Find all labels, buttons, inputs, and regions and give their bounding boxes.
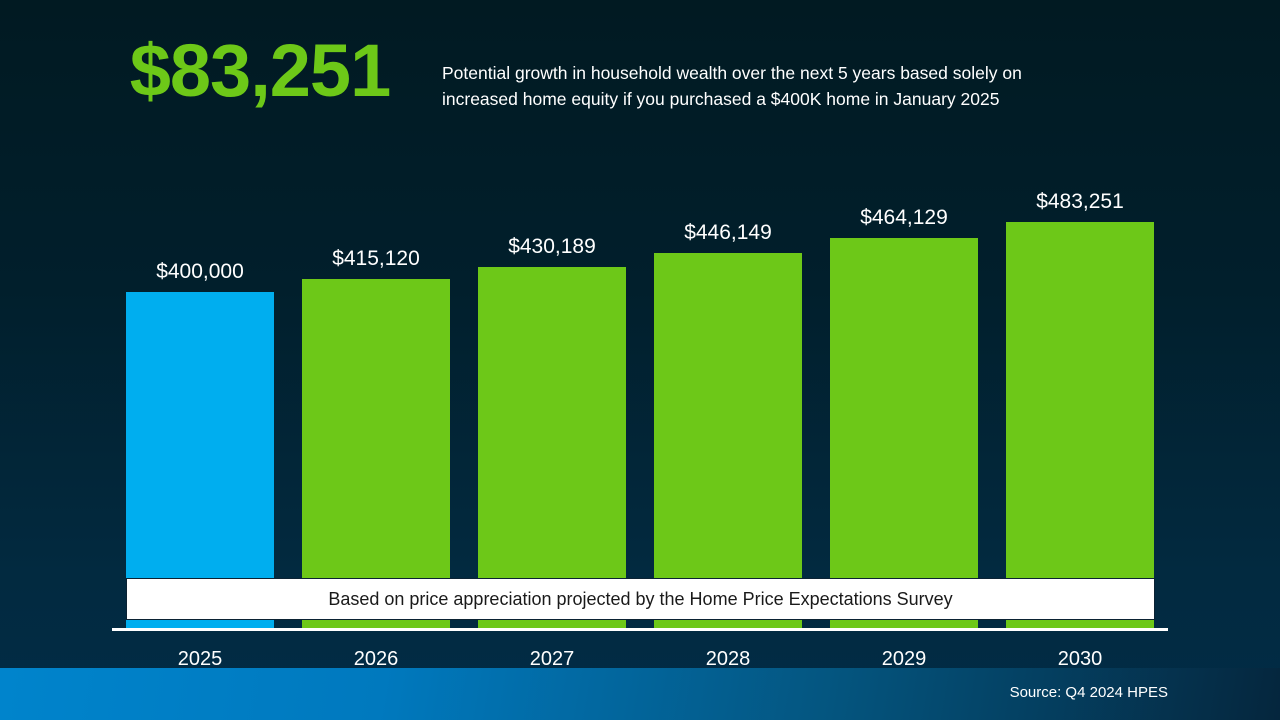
footer-bar: Source: Q4 2024 HPES bbox=[0, 668, 1280, 720]
bar-group-2028[interactable]: $446,1492028 bbox=[654, 253, 802, 629]
bar-value-label-2028: $446,149 bbox=[684, 222, 772, 243]
bar-2029[interactable] bbox=[830, 238, 978, 629]
banner-note: Based on price appreciation projected by… bbox=[126, 578, 1155, 620]
x-axis-label-2029: 2029 bbox=[882, 649, 927, 669]
bar-group-2027[interactable]: $430,1892027 bbox=[478, 267, 626, 629]
banner-note-text: Based on price appreciation projected by… bbox=[328, 589, 952, 610]
bar-group-2026[interactable]: $415,1202026 bbox=[302, 279, 450, 629]
axis-baseline bbox=[112, 628, 1168, 631]
infographic-slide: $83,251 Potential growth in household we… bbox=[0, 0, 1280, 720]
source-label: Source: Q4 2024 HPES bbox=[1010, 684, 1168, 701]
bar-2028[interactable] bbox=[654, 253, 802, 629]
x-axis-label-2026: 2026 bbox=[354, 649, 399, 669]
bar-value-label-2026: $415,120 bbox=[332, 248, 420, 269]
x-axis-label-2025: 2025 bbox=[178, 649, 223, 669]
bar-2027[interactable] bbox=[478, 267, 626, 629]
bar-value-label-2025: $400,000 bbox=[156, 261, 244, 282]
bar-group-2030[interactable]: $483,2512030 bbox=[1006, 222, 1154, 629]
x-axis-label-2027: 2027 bbox=[530, 649, 575, 669]
bar-2026[interactable] bbox=[302, 279, 450, 629]
x-axis-label-2028: 2028 bbox=[706, 649, 751, 669]
bar-value-label-2027: $430,189 bbox=[508, 236, 596, 257]
bar-2030[interactable] bbox=[1006, 222, 1154, 629]
bar-group-2029[interactable]: $464,1292029 bbox=[830, 238, 978, 629]
bar-value-label-2030: $483,251 bbox=[1036, 191, 1124, 212]
x-axis-label-2030: 2030 bbox=[1058, 649, 1103, 669]
bar-value-label-2029: $464,129 bbox=[860, 207, 948, 228]
